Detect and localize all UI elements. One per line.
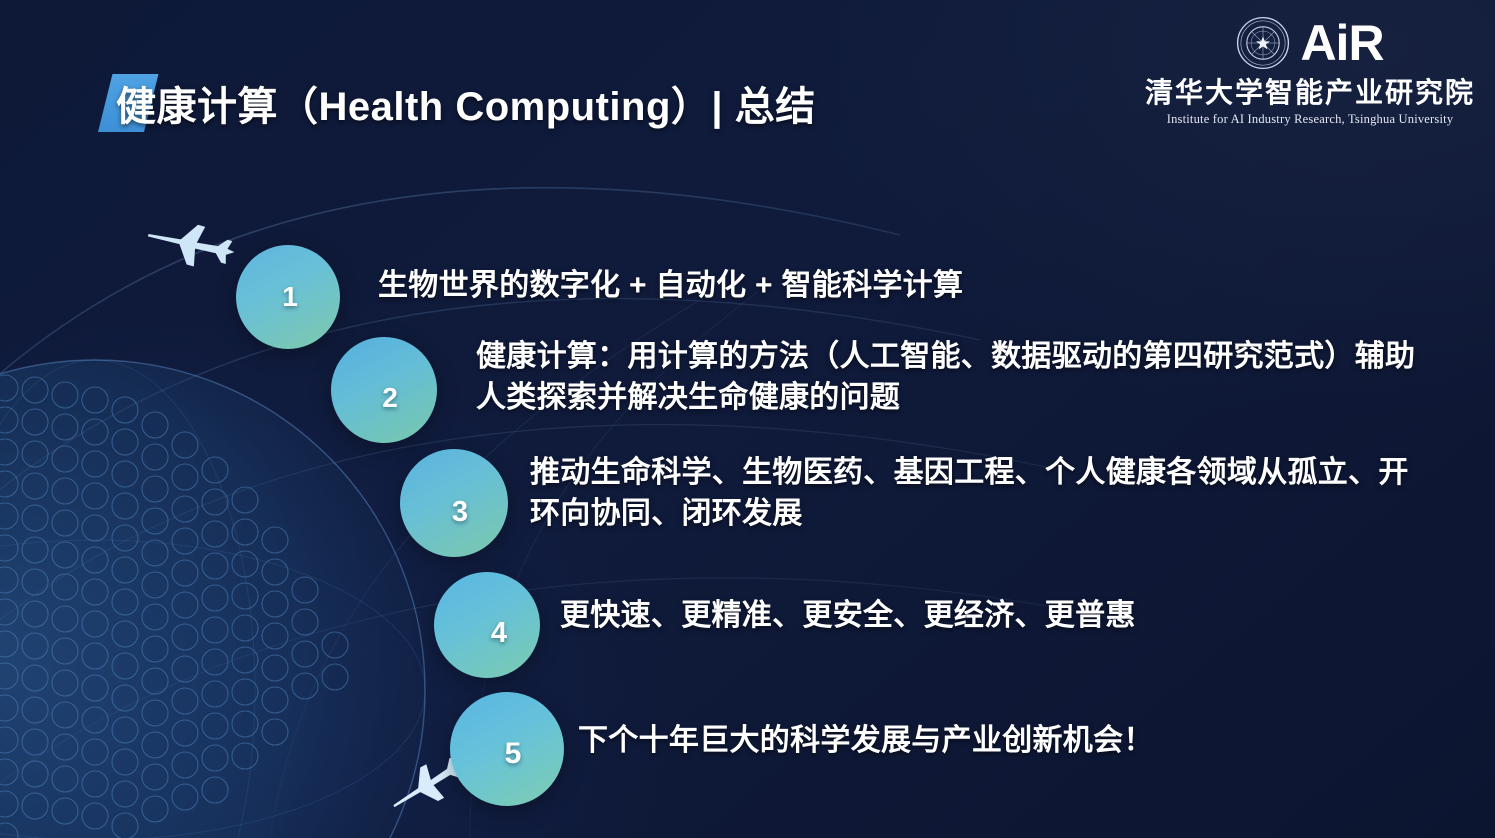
bullet-circle-5: 5	[450, 692, 564, 806]
bullet-number-1: 1	[282, 283, 298, 311]
bullet-text-3: 推动生命科学、生物医药、基因工程、个人健康各领域从孤立、开环向协同、闭环发展	[530, 452, 1410, 535]
bullet-text-4: 更快速、更精准、更安全、更经济、更普惠	[560, 595, 1136, 636]
bullet-circle-1: 1	[236, 245, 340, 349]
bullet-circle-3: 3	[400, 449, 508, 557]
bullet-circle-4: 4	[434, 572, 540, 678]
bullet-text-1: 生物世界的数字化 + 自动化 + 智能科学计算	[378, 265, 963, 306]
slide-canvas: 健康计算（Health Computing）| 总结	[0, 0, 1495, 838]
bullet-number-5: 5	[505, 739, 522, 769]
bullet-number-4: 4	[491, 619, 507, 648]
title-text: 健康计算（Health Computing）| 总结	[116, 74, 816, 132]
bullet-number-2: 2	[382, 384, 398, 412]
bullet-text-2: 健康计算：用计算的方法（人工智能、数据驱动的第四研究范式）辅助人类探索并解决生命…	[476, 336, 1416, 419]
page-title: 健康计算（Health Computing）| 总结	[98, 72, 816, 134]
bullet-number-3: 3	[452, 498, 468, 527]
bullet-circle-2: 2	[331, 337, 437, 443]
bullet-text-5: 下个十年巨大的科学发展与产业创新机会！	[578, 720, 1154, 761]
